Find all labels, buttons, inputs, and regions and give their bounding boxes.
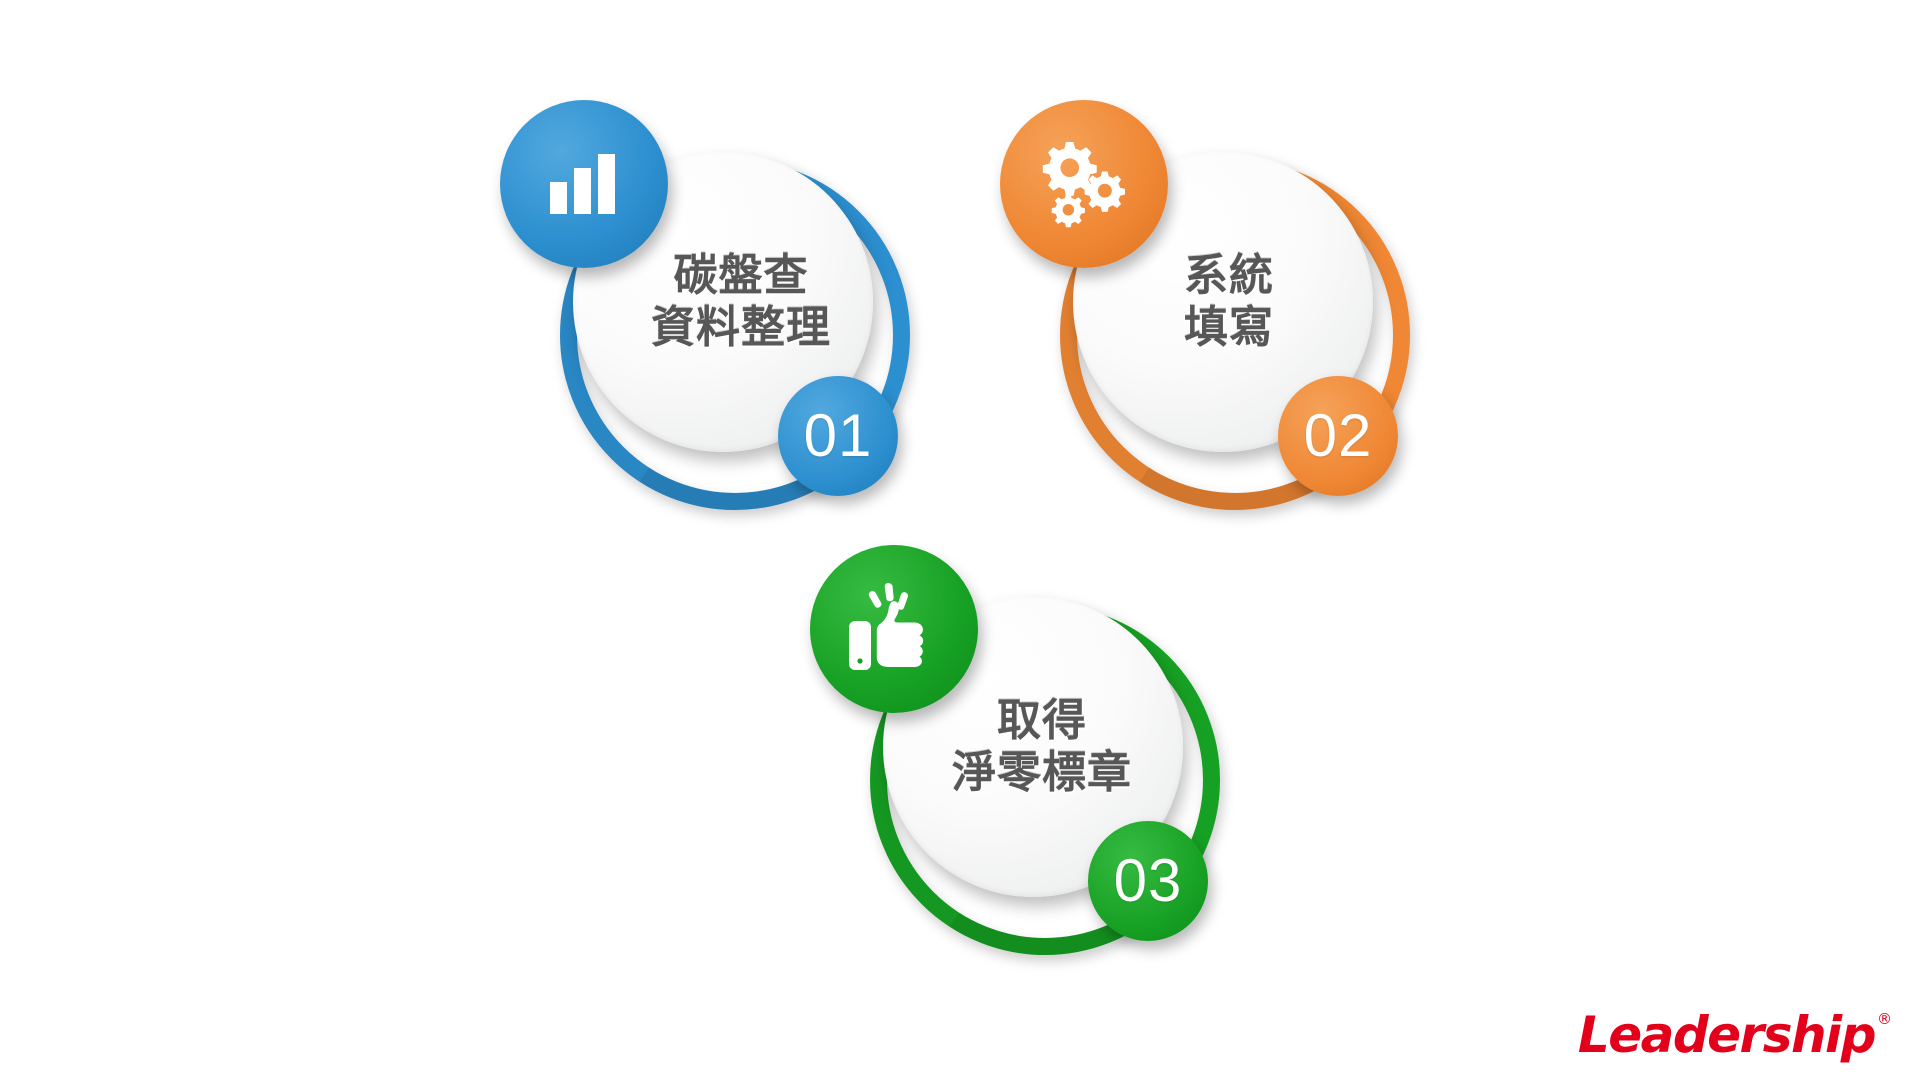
bar-chart-icon: [548, 152, 620, 216]
brand-logo: Leadership ®: [1578, 1010, 1892, 1060]
thumbs-up-icon: [844, 581, 944, 677]
step-label-line1: 取得: [997, 695, 1087, 747]
step-number: 01: [804, 406, 873, 466]
step-number: 02: [1304, 406, 1373, 466]
step-label-line1: 系統: [1184, 250, 1274, 302]
step-number: 03: [1114, 851, 1183, 911]
step-number-badge[interactable]: 03: [1088, 821, 1208, 941]
step-card-03[interactable]: 取得 淨零標章: [810, 545, 1230, 965]
step-label-line1: 碳盤查: [674, 250, 809, 302]
step-icon-bubble[interactable]: [810, 545, 978, 713]
step-icon-bubble[interactable]: [500, 100, 668, 268]
step-label-line2: 淨零標章: [952, 747, 1132, 799]
step-number-badge[interactable]: 02: [1278, 376, 1398, 496]
step-label-line2: 填寫: [1184, 302, 1274, 354]
step-icon-bubble[interactable]: [1000, 100, 1168, 268]
gears-icon: [1036, 138, 1132, 230]
step-card-01[interactable]: 碳盤查 資料整理 01: [500, 100, 920, 520]
registered-trademark-icon: ®: [1877, 1012, 1892, 1027]
step-card-02[interactable]: 系統 填寫 02: [1000, 100, 1420, 520]
slide-canvas: 碳盤查 資料整理 01 系統 填寫: [0, 0, 1920, 1080]
brand-name: Leadership: [1578, 1010, 1875, 1060]
step-number-badge[interactable]: 01: [778, 376, 898, 496]
step-label-line2: 資料整理: [651, 302, 831, 354]
